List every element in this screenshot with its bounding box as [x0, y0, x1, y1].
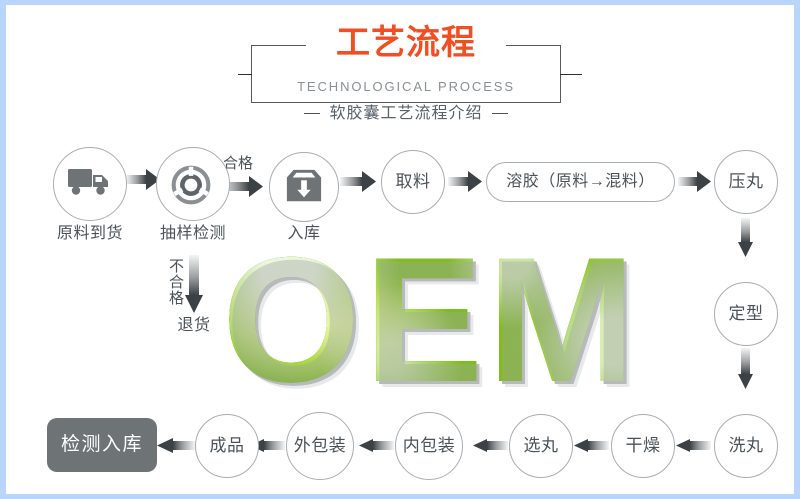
infographic-canvas: 工艺流程 TECHNOLOGICAL PROCESS 软胶囊工艺流程介绍 OEM — [6, 5, 800, 499]
node-inspection-warehousing-label: 检测入库 — [61, 435, 143, 455]
branch-return-label: 退货 — [166, 316, 222, 336]
arrow-fail-to-return — [185, 255, 203, 313]
node-material-taking-label: 取料 — [396, 172, 431, 192]
node-finished-product-label: 成品 — [210, 436, 245, 456]
branch-fail-label: 不合格 — [166, 258, 184, 306]
node-outer-packaging-label: 外包装 — [294, 436, 347, 456]
node-drying-label: 干燥 — [626, 436, 661, 456]
node-material-arrival[interactable] — [53, 147, 127, 221]
arrow-dissolving-to-pressing — [678, 171, 711, 192]
arrow-pressing-to-shaping — [738, 218, 753, 257]
node-pill-washing-label: 洗丸 — [729, 436, 764, 456]
node-shaping-label: 定型 — [729, 304, 764, 324]
node-material-taking[interactable]: 取料 — [381, 150, 445, 214]
node-pill-pressing-label: 压丸 — [729, 172, 764, 192]
node-material-arrival-label: 原料到货 — [40, 224, 140, 244]
node-outer-packaging[interactable]: 外包装 — [286, 412, 354, 480]
node-pill-selection[interactable]: 选丸 — [509, 414, 573, 478]
node-finished-product[interactable]: 成品 — [195, 414, 259, 478]
node-pill-pressing[interactable]: 压丸 — [714, 150, 778, 214]
node-sampling-inspection[interactable] — [156, 147, 230, 221]
process-flow-infographic: 工艺流程 TECHNOLOGICAL PROCESS 软胶囊工艺流程介绍 OEM — [0, 0, 800, 499]
inbox-arrow-down-icon — [284, 167, 324, 207]
arrow-inner-to-outer-packaging — [359, 439, 394, 452]
node-warehousing-label: 入库 — [264, 224, 344, 244]
arrow-arrival-to-sampling — [126, 169, 160, 190]
node-gel-dissolving[interactable]: 溶胶（原料→混料） — [486, 162, 675, 202]
node-warehousing[interactable] — [269, 152, 339, 222]
arrow-drying-to-selection — [574, 439, 609, 452]
arrow-warehousing-to-taking — [340, 171, 376, 192]
arrow-finished-to-inspection-warehousing — [157, 438, 195, 453]
arrow-taking-to-dissolving — [448, 171, 482, 192]
node-shaping[interactable]: 定型 — [714, 282, 778, 346]
node-inner-packaging-label: 内包装 — [403, 436, 456, 456]
arrow-shaping-to-washing — [738, 348, 753, 389]
inspection-ring-icon — [170, 164, 216, 204]
node-drying[interactable]: 干燥 — [611, 414, 675, 478]
node-inner-packaging[interactable]: 内包装 — [395, 412, 463, 480]
node-gel-dissolving-label: 溶胶（原料→混料） — [506, 172, 655, 192]
node-pill-selection-label: 选丸 — [524, 436, 559, 456]
arrow-selection-to-inner-packaging — [473, 439, 508, 452]
truck-icon — [67, 164, 113, 204]
arrow-washing-to-drying — [676, 439, 711, 452]
node-pill-washing[interactable]: 洗丸 — [714, 414, 778, 478]
node-sampling-inspection-label: 抽样检测 — [143, 224, 243, 244]
node-inspection-warehousing[interactable]: 检测入库 — [47, 418, 157, 472]
